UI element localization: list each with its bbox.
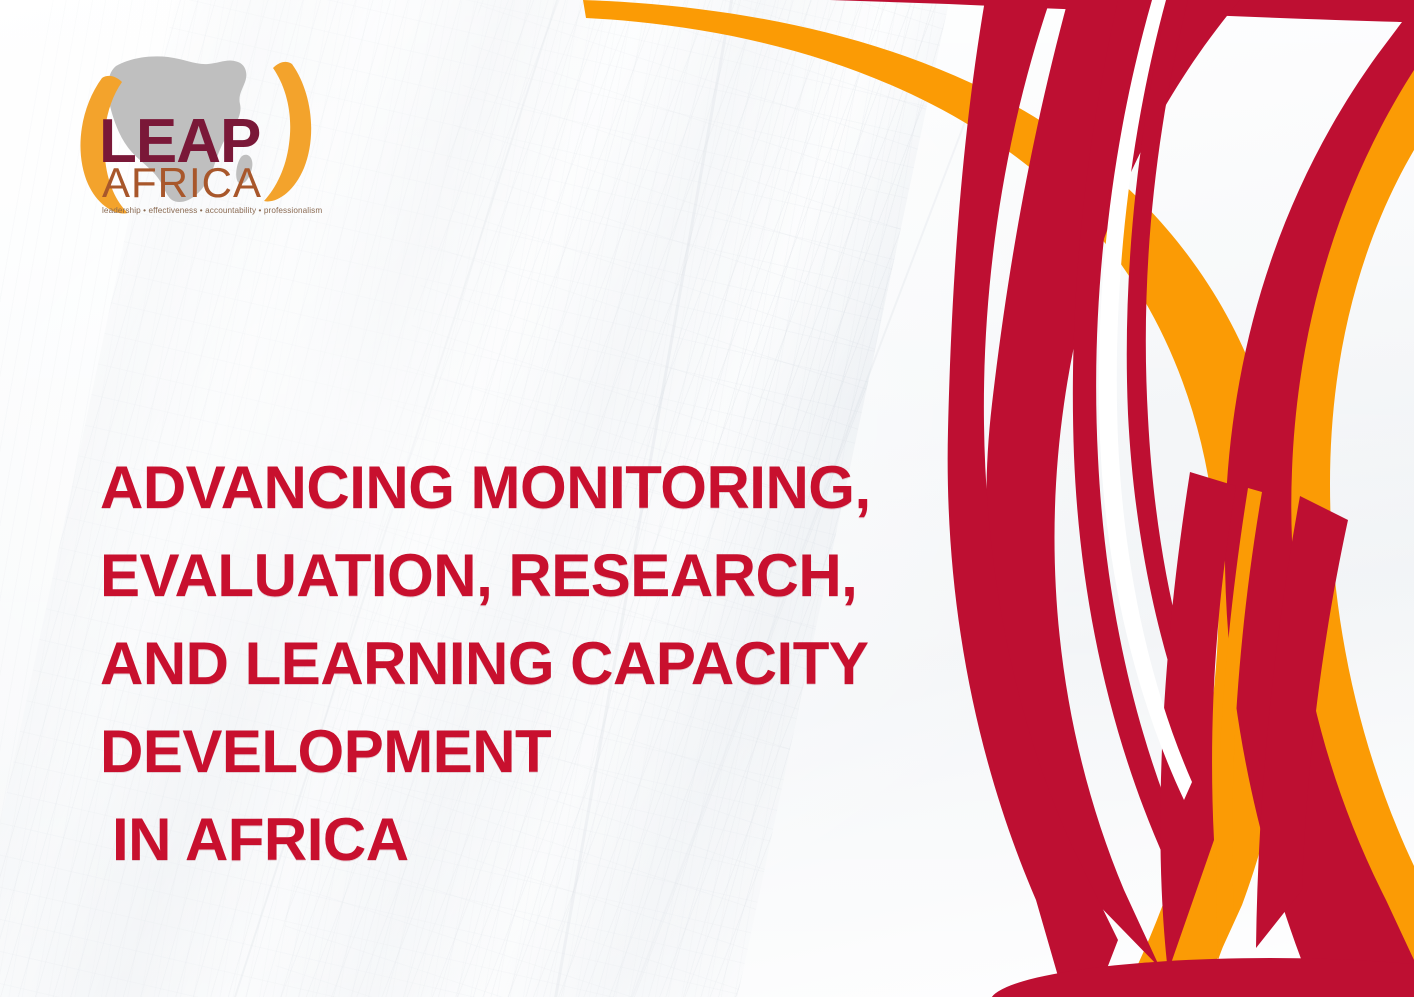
headline-line-5: IN AFRICA [100, 796, 1110, 884]
page-title: ADVANCING MONITORING, EVALUATION, RESEAR… [100, 444, 1110, 883]
logo-wordmark-africa: AFRICA [102, 159, 262, 206]
logo-tagline: leadership • effectiveness • accountabil… [102, 206, 322, 215]
leap-africa-logo[interactable]: LEAP AFRICA leadership • effectiveness •… [72, 52, 322, 224]
headline-line-4: DEVELOPMENT [100, 708, 1110, 796]
orange-crescent-icon [264, 62, 311, 202]
poster-canvas: LEAP AFRICA leadership • effectiveness •… [0, 0, 1414, 997]
headline-line-2: EVALUATION, RESEARCH, [100, 532, 1110, 620]
headline-line-1: ADVANCING MONITORING, [100, 444, 1110, 532]
headline-line-3: AND LEARNING CAPACITY [100, 620, 1110, 708]
